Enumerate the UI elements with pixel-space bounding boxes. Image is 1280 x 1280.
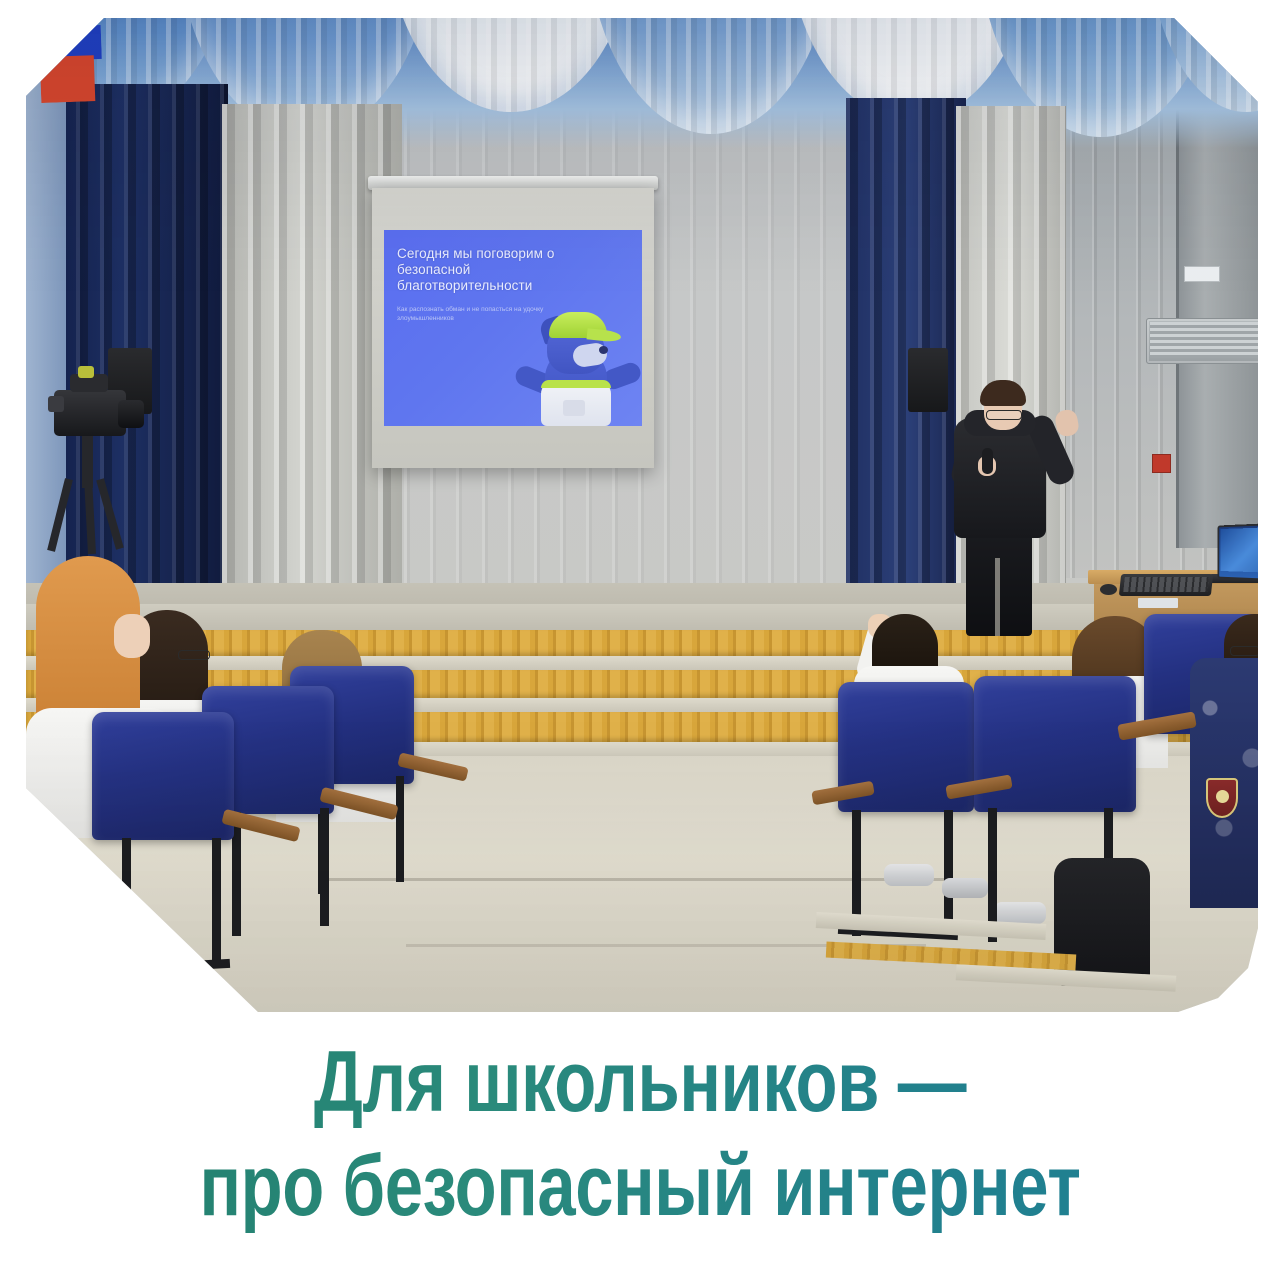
video-camera-viewfinder xyxy=(48,396,64,412)
audience-shoe xyxy=(994,902,1046,924)
keyboard-keys xyxy=(1123,577,1209,592)
video-camera-light xyxy=(78,366,94,378)
cadet-glasses xyxy=(1230,646,1258,656)
chair-frame xyxy=(112,959,230,974)
video-camera-body xyxy=(54,390,126,436)
photo-card: Сегодня мы поговорим о безопасной благот… xyxy=(26,18,1258,1012)
fire-alarm-icon xyxy=(1152,454,1171,473)
door-frame xyxy=(1176,78,1258,548)
door-sign xyxy=(1184,266,1220,282)
chair-frame xyxy=(122,838,131,970)
flag-red-stripe xyxy=(40,55,96,103)
auditorium-chair xyxy=(974,676,1136,812)
chair-frame xyxy=(944,810,953,930)
auditorium-chair xyxy=(92,712,234,840)
speaker-glasses xyxy=(986,410,1022,420)
air-vent-slats xyxy=(1150,322,1258,358)
slide-title: Сегодня мы поговорим о безопасной благот… xyxy=(397,246,587,294)
microphone xyxy=(982,448,993,474)
loudspeaker xyxy=(908,348,948,412)
chair-frame xyxy=(396,776,404,882)
stage-curtain-folds xyxy=(846,98,966,608)
papers xyxy=(1138,598,1178,608)
tripod-column xyxy=(82,436,93,488)
audience-person-glasses xyxy=(178,650,210,660)
slide-mascot-icon xyxy=(511,308,641,426)
stage-curtain-folds xyxy=(52,84,228,604)
speaker-leg-gap xyxy=(995,558,1000,636)
mouse xyxy=(1100,584,1117,595)
audience-shoe xyxy=(884,864,934,886)
chair-frame xyxy=(212,838,221,964)
video-camera-lens xyxy=(118,400,144,428)
audience-shoe xyxy=(942,878,988,898)
laptop-screen xyxy=(1221,527,1258,573)
flag xyxy=(39,25,104,103)
caption-headline: Для школьников — про безопасный интернет xyxy=(128,1030,1152,1238)
floor-seam xyxy=(326,878,966,881)
audience-person-hand xyxy=(114,614,150,658)
chair-frame xyxy=(320,808,329,926)
uniform-emblem-star xyxy=(1216,790,1229,803)
